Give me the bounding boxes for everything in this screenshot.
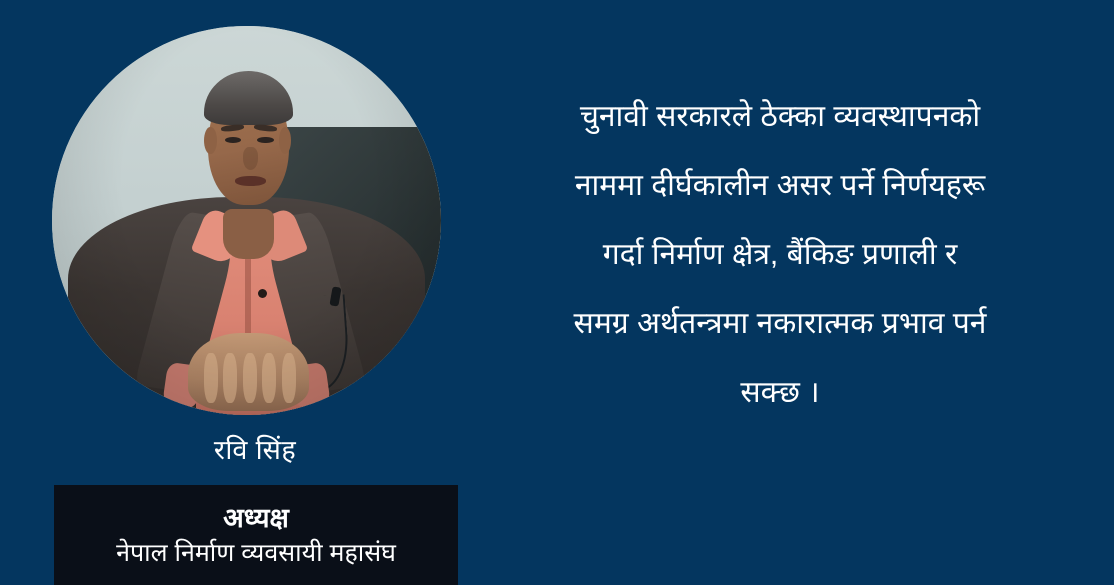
- quote-line: गर्दा निर्माण क्षेत्र, बैंकिङ प्रणाली र: [490, 220, 1070, 289]
- speaker-caption-box: अध्यक्ष नेपाल निर्माण व्यवसायी महासंघ: [54, 485, 458, 585]
- speaker-title: अध्यक्ष: [223, 501, 289, 535]
- speaker-photo: [52, 26, 441, 415]
- speaker-name: रवि सिंह: [52, 430, 458, 470]
- portrait-illustration: [52, 26, 441, 415]
- speaker-organization: नेपाल निर्माण व्यवसायी महासंघ: [116, 537, 396, 569]
- quote-line: नाममा दीर्घकालीन असर पर्ने निर्णयहरू: [490, 151, 1070, 220]
- quote-line: सक्छ ।: [490, 358, 1070, 427]
- quote-line: चुनावी सरकारले ठेक्का व्यवस्थापनको: [490, 82, 1070, 151]
- quote-card: रवि सिंह अध्यक्ष नेपाल निर्माण व्यवसायी …: [0, 0, 1114, 585]
- photo-vignette: [52, 26, 441, 415]
- quote-line: समग्र अर्थतन्त्रमा नकारात्मक प्रभाव पर्न: [490, 289, 1070, 358]
- quote-text: चुनावी सरकारले ठेक्का व्यवस्थापनको नाममा…: [490, 82, 1070, 427]
